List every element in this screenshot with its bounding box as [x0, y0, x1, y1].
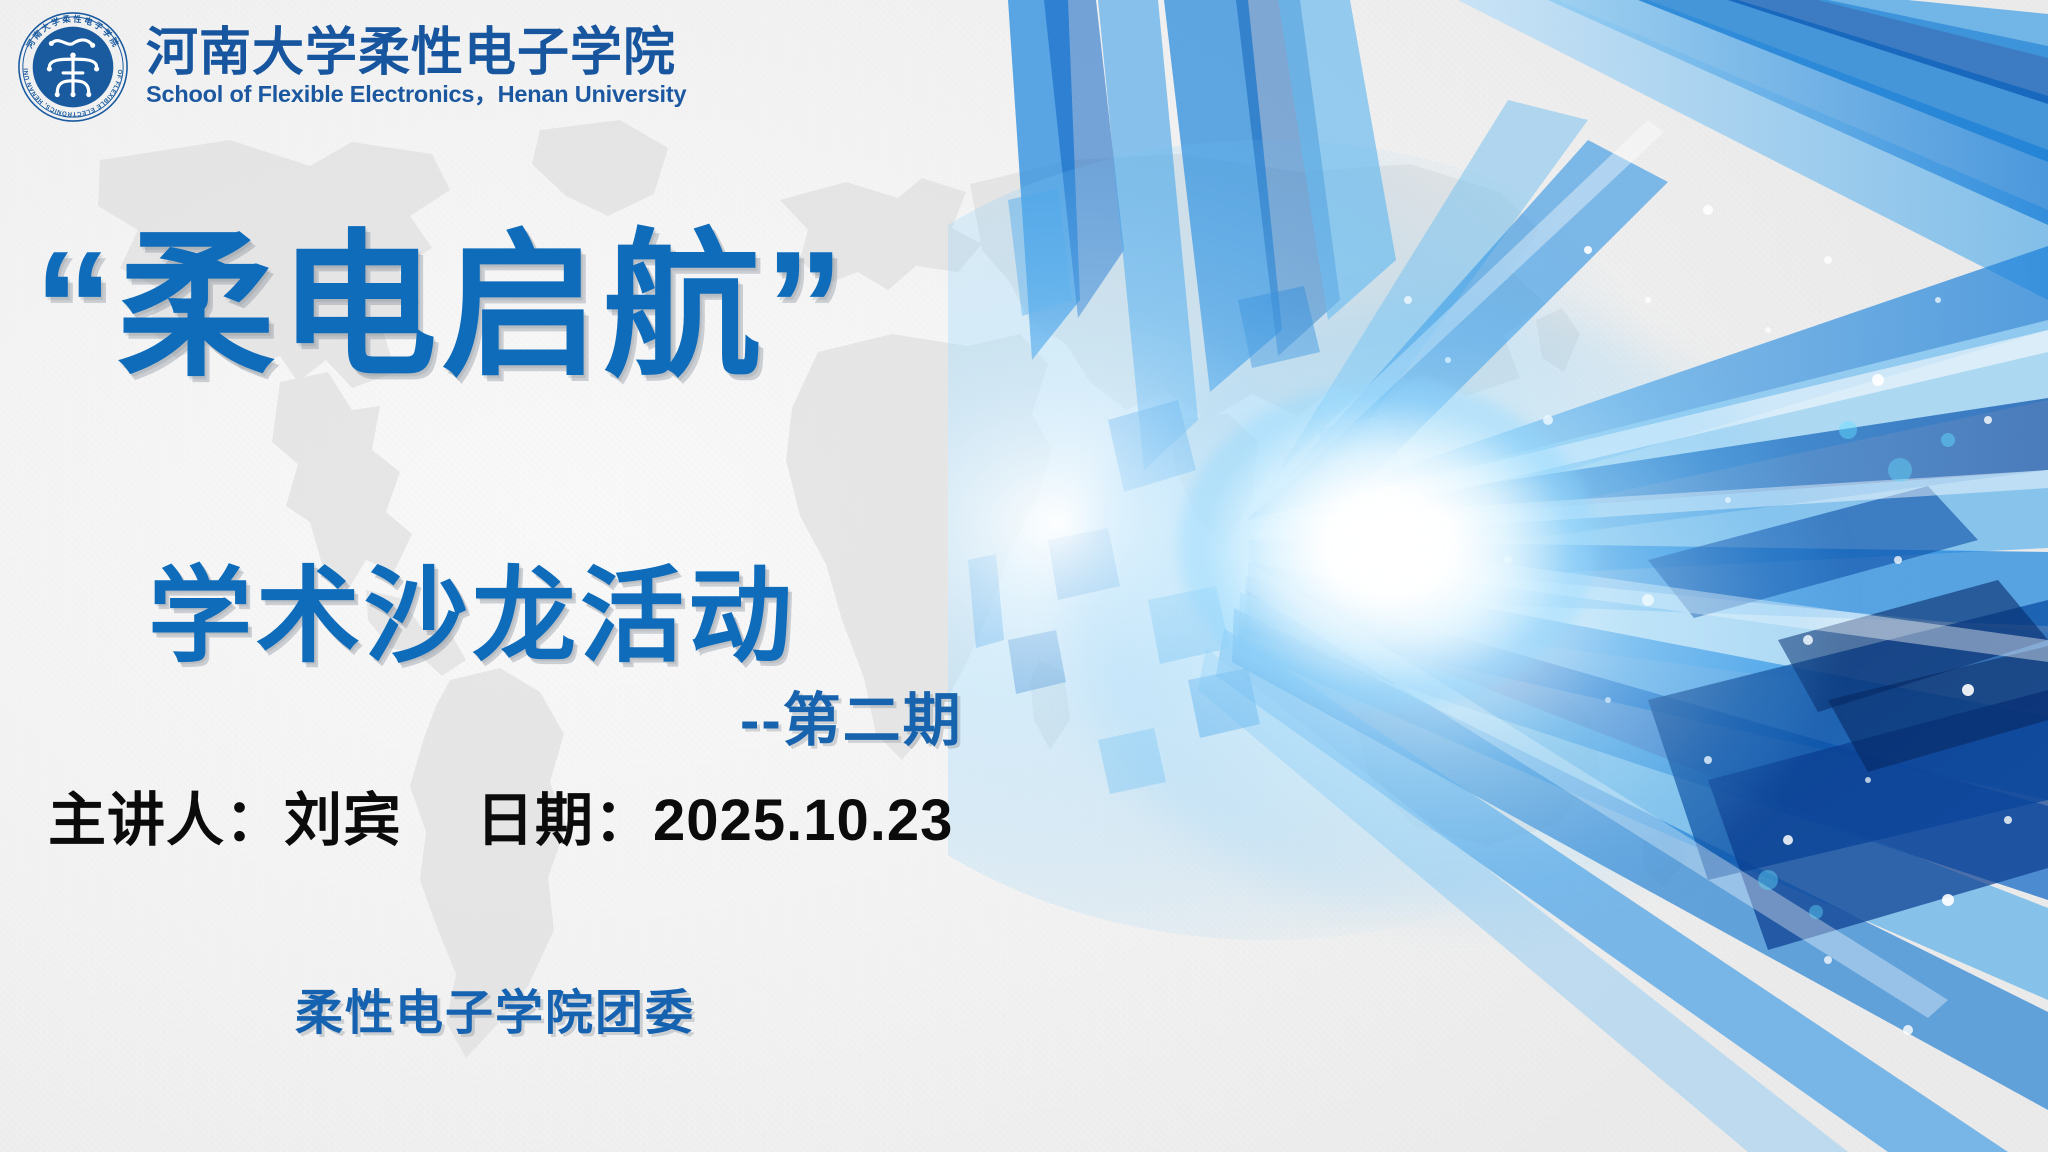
institution-name-en: School of Flexible Electronics，Henan Uni… [146, 82, 686, 108]
institution-name-cn: 河南大学柔性电子学院 [146, 26, 686, 80]
date-value: 2025.10.23 [653, 792, 953, 850]
institution-name-block: 河南大学柔性电子学院 School of Flexible Electronic… [146, 26, 686, 108]
abstract-blue-ray-burst [948, 0, 2048, 1152]
event-title: “柔电启航” [34, 228, 848, 386]
event-meta: 主讲人： 刘宾 日期： 2025.10.23 [48, 792, 953, 850]
presentation-title-slide: 河南大学柔性电子学院 SCHOOL OF FLEXIBLE ELECTRONIC… [0, 0, 2048, 1152]
speaker-label: 主讲人： [48, 792, 284, 850]
institution-logo-lockup: 河南大学柔性电子学院 SCHOOL OF FLEXIBLE ELECTRONIC… [14, 8, 686, 126]
event-subtitle: 学术沙龙活动 [148, 565, 796, 669]
university-emblem-icon: 河南大学柔性电子学院 SCHOOL OF FLEXIBLE ELECTRONIC… [14, 8, 132, 126]
speaker-name: 刘宾 [284, 792, 402, 850]
event-edition: --第二期 [740, 692, 963, 750]
organizer-name: 柔性电子学院团委 [295, 990, 695, 1038]
date-label: 日期： [476, 792, 653, 850]
